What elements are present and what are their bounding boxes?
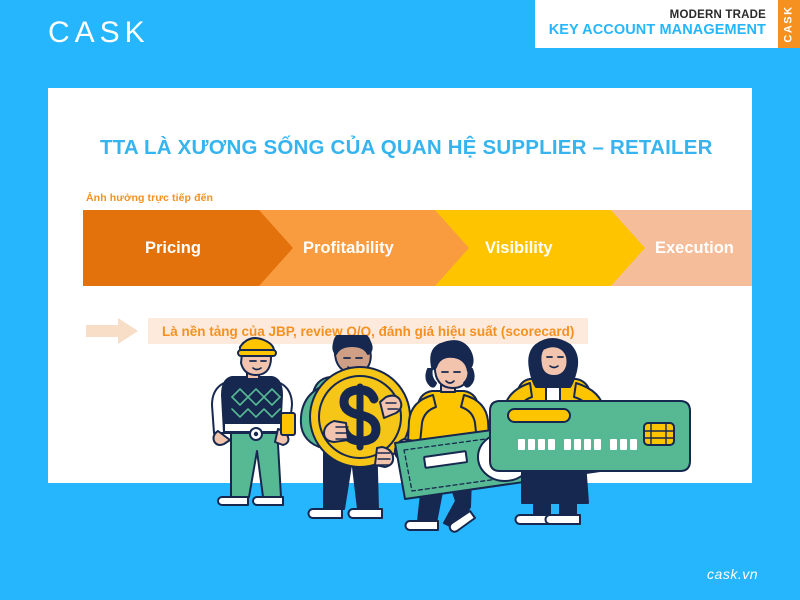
chevron-process-bar: Pricing Profitability Visibility Executi…: [83, 210, 728, 286]
chevron-label: Profitability: [303, 239, 394, 258]
people-finance-illustration: [48, 335, 752, 535]
content-card: TTA LÀ XƯƠNG SỐNG CỦA QUAN HỆ SUPPLIER –…: [48, 88, 752, 535]
slide-canvas: CASK MODERN TRADE KEY ACCOUNT MANAGEMENT…: [0, 0, 800, 600]
badge-line-key-account-management: KEY ACCOUNT MANAGEMENT: [549, 22, 766, 39]
program-badge-text: MODERN TRADE KEY ACCOUNT MANAGEMENT: [535, 0, 778, 48]
chevron-step-pricing[interactable]: Pricing: [83, 210, 295, 286]
program-badge: MODERN TRADE KEY ACCOUNT MANAGEMENT CASK: [535, 0, 800, 48]
badge-strip-label: CASK: [783, 5, 795, 42]
chevron-label: Pricing: [145, 239, 201, 258]
chevron-label: Execution: [655, 239, 734, 258]
footer-url: cask.vn: [707, 566, 758, 582]
kicker-label: Ảnh hưởng trực tiếp đến: [86, 192, 213, 204]
cask-logo: CASK: [48, 18, 150, 48]
badge-side-strip: CASK: [778, 0, 800, 48]
credit-card: [490, 401, 690, 471]
chevron-label: Visibility: [485, 239, 553, 258]
page-title: TTA LÀ XƯƠNG SỐNG CỦA QUAN HỆ SUPPLIER –…: [100, 136, 713, 160]
figure-worker: [212, 338, 295, 505]
badge-line-modern-trade: MODERN TRADE: [670, 9, 766, 22]
